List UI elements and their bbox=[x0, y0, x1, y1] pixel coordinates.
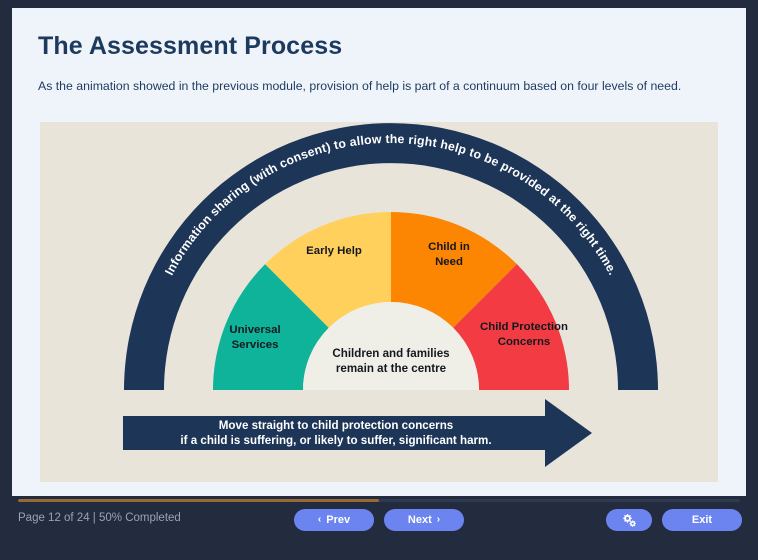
segment-label-line1: Child in bbox=[428, 241, 470, 253]
hub-caption-line1: Children and families bbox=[332, 347, 449, 360]
segment-label-line2: Need bbox=[435, 256, 463, 268]
settings-button[interactable] bbox=[606, 509, 652, 531]
next-button[interactable]: Next › bbox=[384, 509, 464, 531]
chevron-right-icon: › bbox=[437, 515, 440, 525]
segment-label-line1: Early Help bbox=[306, 245, 362, 257]
continuum-graphic: Information sharing (with consent) to al… bbox=[40, 122, 718, 482]
slide-stage: The Assessment Process As the animation … bbox=[12, 8, 746, 496]
segment-label-line2: Concerns bbox=[498, 336, 551, 348]
course-progress-bar[interactable] bbox=[18, 499, 740, 502]
player-footer: Page 12 of 24 | 50% Completed ‹ Prev Nex… bbox=[0, 496, 758, 560]
elearning-player: The Assessment Process As the animation … bbox=[0, 0, 758, 560]
assessment-continuum-diagram: Information sharing (with consent) to al… bbox=[40, 122, 718, 482]
escalation-arrow-banner bbox=[123, 399, 592, 467]
segment-label-line1: Universal bbox=[229, 324, 280, 336]
utility-buttons: Exit bbox=[606, 509, 742, 531]
prev-button[interactable]: ‹ Prev bbox=[294, 509, 374, 531]
cogs-icon bbox=[621, 513, 637, 527]
page-title: The Assessment Process bbox=[38, 32, 342, 61]
segment-label-line2: Services bbox=[232, 339, 279, 351]
exit-button-label: Exit bbox=[692, 514, 712, 526]
hub-caption-line2: remain at the centre bbox=[336, 362, 447, 375]
banner-line1: Move straight to child protection concer… bbox=[219, 419, 453, 432]
course-progress-fill bbox=[18, 499, 379, 502]
segment-label-line1: Child Protection bbox=[480, 321, 568, 333]
exit-button[interactable]: Exit bbox=[662, 509, 742, 531]
banner-line2: if a child is suffering, or likely to su… bbox=[180, 434, 491, 447]
next-button-label: Next bbox=[408, 514, 432, 526]
slide-subtitle: As the animation showed in the previous … bbox=[38, 78, 728, 94]
prev-button-label: Prev bbox=[326, 514, 350, 526]
page-status-text: Page 12 of 24 | 50% Completed bbox=[18, 512, 181, 524]
chevron-left-icon: ‹ bbox=[318, 515, 321, 525]
segment-label-early-help: Early Help bbox=[306, 245, 362, 257]
navigation-buttons: ‹ Prev Next › bbox=[294, 509, 464, 531]
